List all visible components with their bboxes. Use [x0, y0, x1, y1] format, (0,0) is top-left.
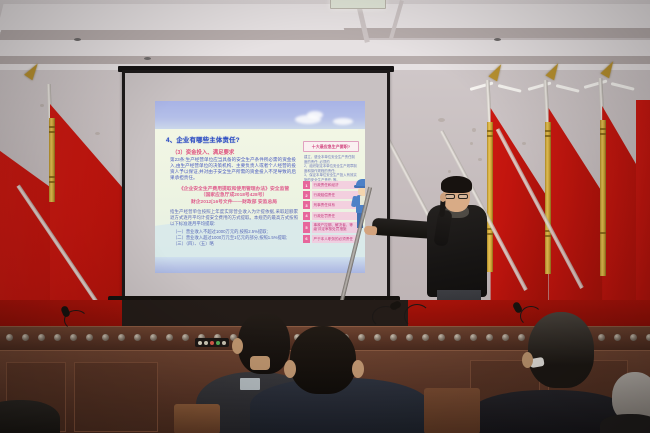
- slide-paragraph: 第23条:生产经营单位应当具备的安全生产条件所必需的资金投入,由生产经营单位的决…: [170, 157, 296, 181]
- panel-row: 6 严于本人职务的必须责任: [303, 235, 359, 243]
- presenter-hand: [364, 226, 378, 236]
- panel-row-number: 3: [303, 201, 310, 209]
- control-led-strip: [195, 338, 229, 347]
- slide-quote: 《企业安全生产费用提取和使用管理办法》安全监管 （国家应急厅成2018号428号…: [169, 187, 299, 206]
- slide-title: 4、企业有哪些主体责任?: [166, 135, 240, 144]
- chair-back: [424, 388, 480, 433]
- chair-back: [174, 404, 220, 433]
- audience-head: [290, 326, 356, 394]
- presentation-slide: 4、企业有哪些主体责任? （3）资金投入、满足要求 第23条:生产经营单位应当具…: [155, 101, 365, 273]
- panel-row-number: 1: [303, 181, 310, 189]
- slide-list-item: （一）营业收入不超过1000万元的,按照2.5%提取;: [173, 229, 297, 235]
- panel-heading: 十大最应急生产要职?: [303, 141, 359, 152]
- presenter-ear: [440, 193, 446, 202]
- slide-list-item: （三）（四）、（五）略: [173, 241, 297, 247]
- slide-footer-band: [155, 257, 365, 273]
- desk-panel: [74, 362, 158, 432]
- panel-row-number: 2: [303, 191, 310, 199]
- slide-sky-band: [155, 101, 365, 131]
- glasses-icon: [458, 194, 468, 199]
- presenter-hair: [441, 176, 472, 193]
- panel-note: 建立、健全本单位安全生产责任制度的责任; 必须的 2、组织制定本单位安全生产规章…: [304, 155, 358, 183]
- slide-list-item: （二）营业收入超过1000万元至1亿元的部分,按照1.5%提取;: [173, 235, 297, 241]
- panel-row-number: 5: [303, 222, 310, 233]
- audience-head: [528, 312, 594, 388]
- auditorium-photo: 4、企业有哪些主体责任? （3）资金投入、满足要求 第23条:生产经营单位应当具…: [0, 0, 650, 433]
- phone-screen-glow: [240, 378, 260, 390]
- slide-paragraph-2: 指生产经营单位按照上年度实际营业收入为计提依据,采取超额累退方式逐月平均计提安全…: [170, 209, 298, 226]
- panel-row-number: 4: [303, 212, 310, 220]
- presenter-torso: [427, 205, 487, 297]
- glasses-icon: [445, 194, 455, 199]
- ceiling-light: [330, 0, 386, 9]
- panel-row-text: 严于本人职务的必须责任: [312, 235, 360, 243]
- slide-subtitle: （3）资金投入、满足要求: [172, 148, 234, 156]
- panel-row-number: 6: [303, 235, 310, 243]
